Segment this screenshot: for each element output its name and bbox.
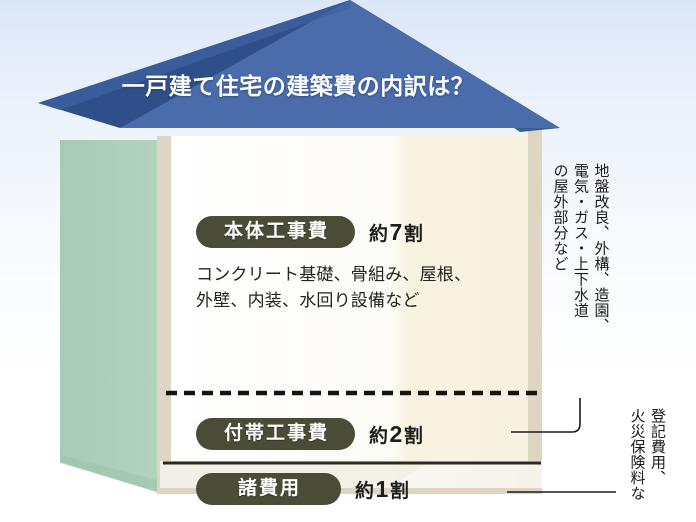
annotation-column: の屋外部分など (551, 163, 569, 393)
annotation-incidental-note: 地盤改良、外構、造園、 電気・ガス・上下水道 の屋外部分など (548, 163, 610, 393)
section-row-incidental-construction: 付帯工事費 約2割 (196, 418, 423, 450)
ratio-incidental-construction: 約2割 (369, 421, 423, 448)
house-left-edge-strip (157, 136, 171, 494)
ratio-suffix: 割 (404, 224, 424, 245)
annotation-column: 電気・ガス・上下水道 (572, 163, 590, 393)
ratio-number: 7 (389, 219, 404, 245)
ratio-misc-expenses: 約1割 (355, 476, 409, 503)
house-right-edge-strip (528, 128, 542, 494)
ratio-main-construction: 約7割 (369, 219, 423, 246)
annotation-column: 登記費用、 (649, 408, 667, 522)
ratio-number: 1 (375, 476, 390, 502)
annotation-misc-note: 登記費用、 火災保険料な (625, 408, 666, 522)
ratio-prefix: 約 (355, 481, 375, 502)
ratio-suffix: 割 (404, 426, 424, 447)
badge-misc-expenses: 諸費用 (196, 473, 341, 505)
house-side-wall (60, 140, 157, 492)
ratio-number: 2 (389, 421, 404, 447)
section-row-misc-expenses: 諸費用 約1割 (196, 473, 409, 505)
page-title: 一戸建て住宅の建築費の内訳は？ (108, 71, 488, 101)
description-main-construction: コンクリート基礎、骨組み、屋根、 外壁、内装、水回り設備など (196, 262, 516, 314)
infographic-canvas: 一戸建て住宅の建築費の内訳は？ 本体工事費 約7割 コンクリート基礎、骨組み、屋… (0, 0, 696, 522)
badge-main-construction: 本体工事費 (196, 216, 355, 248)
ratio-prefix: 約 (369, 426, 389, 447)
section-row-main-construction: 本体工事費 約7割 (196, 216, 423, 248)
ratio-prefix: 約 (369, 224, 389, 245)
annotation-column: 地盤改良、外構、造園、 (592, 163, 610, 393)
ratio-suffix: 割 (390, 481, 410, 502)
badge-incidental-construction: 付帯工事費 (196, 418, 355, 450)
annotation-column: 火災保険料な (628, 408, 646, 522)
